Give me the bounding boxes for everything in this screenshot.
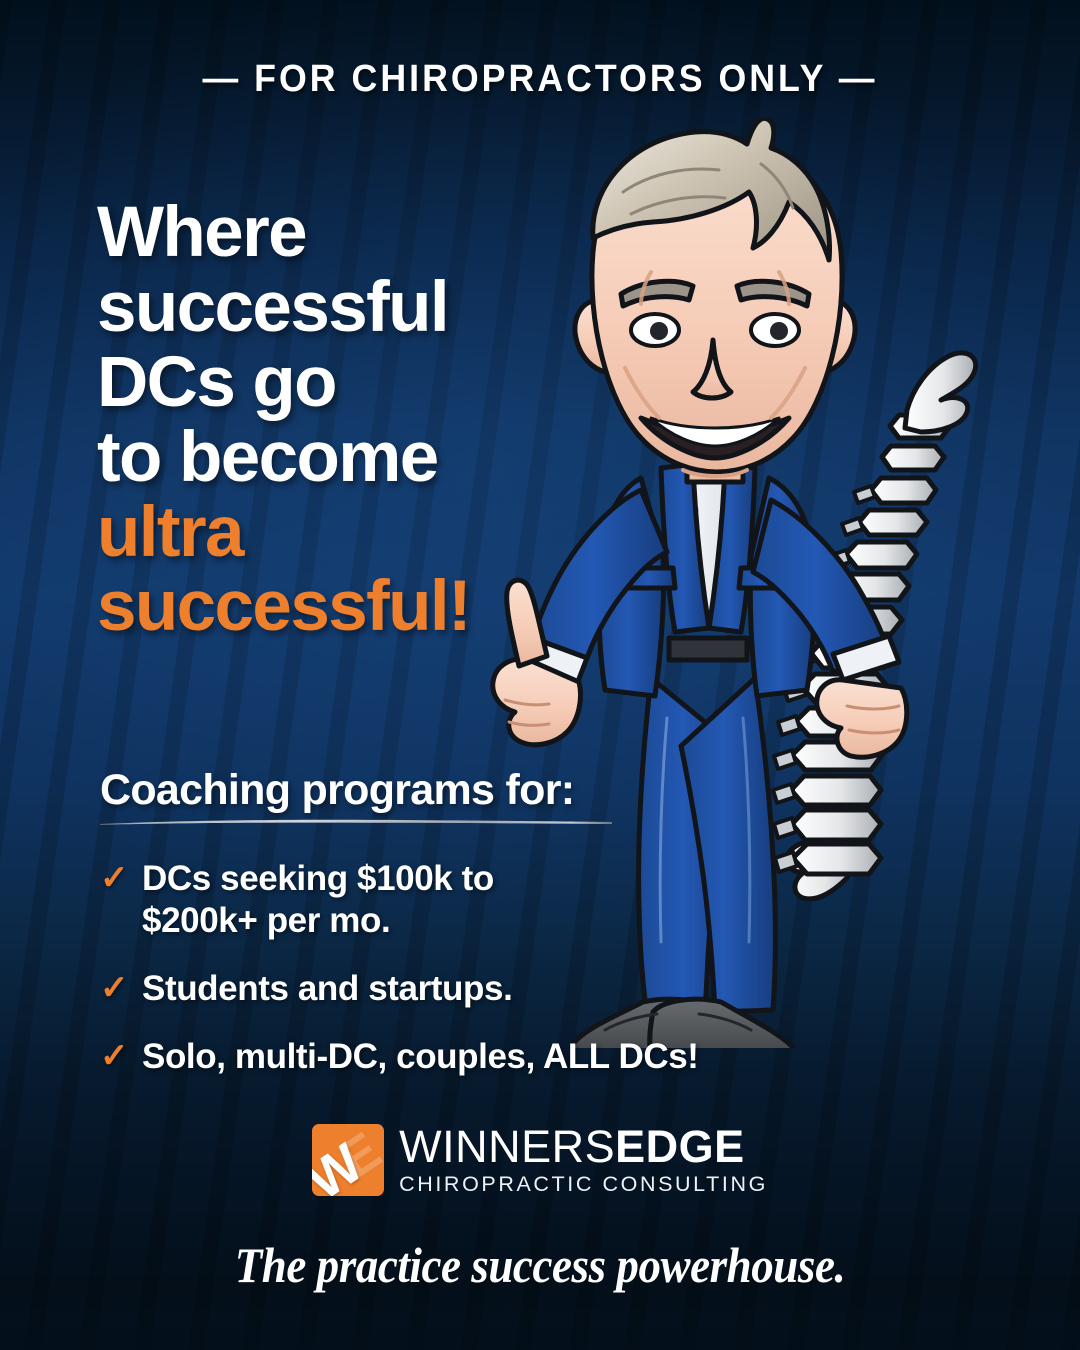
headline-line-4: to become [97, 421, 470, 496]
list-item-label: Students and startups. [142, 968, 512, 1010]
subheading-coaching-programs: Coaching programs for: [100, 766, 574, 815]
advertisement-poster: — FOR CHIROPRACTORS ONLY — [0, 0, 1080, 1350]
check-icon: ✓ [100, 968, 142, 1008]
brand-logo: E W WINNERSEDGE CHIROPRACTIC CONSULTING [0, 1124, 1080, 1196]
check-icon: ✓ [100, 858, 142, 898]
brand-subtitle: CHIROPRACTIC CONSULTING [399, 1174, 768, 1196]
brand-name-bold: EDGE [615, 1121, 745, 1172]
tagline: The practice success powerhouse. [54, 1236, 1026, 1294]
headline-line-6-accent: successful! [97, 570, 470, 645]
headline-line-2: successful [97, 271, 470, 346]
benefits-list: ✓ DCs seeking $100k to $200k+ per mo. ✓ … [100, 858, 800, 1104]
headline-line-3: DCs go [97, 346, 470, 421]
brand-name-light: WINNERS [399, 1121, 615, 1172]
list-item-label: DCs seeking $100k to $200k+ per mo. [142, 858, 494, 942]
list-item: ✓ Students and startups. [100, 968, 800, 1010]
winners-edge-monogram-icon: E W [312, 1124, 384, 1196]
eyebrow-label: — FOR CHIROPRACTORS ONLY — [32, 58, 1047, 101]
headline-line-5-accent: ultra [97, 496, 470, 571]
check-icon: ✓ [100, 1036, 142, 1076]
list-item-label: Solo, multi-DC, couples, ALL DCs! [142, 1036, 699, 1078]
page-title: Where successful DCs go to become ultra … [97, 196, 470, 645]
headline-line-1: Where [97, 196, 470, 271]
brand-name: WINNERSEDGE [399, 1124, 768, 1169]
metallic-divider [100, 818, 612, 827]
list-item: ✓ DCs seeking $100k to $200k+ per mo. [100, 858, 800, 942]
list-item: ✓ Solo, multi-DC, couples, ALL DCs! [100, 1036, 800, 1078]
